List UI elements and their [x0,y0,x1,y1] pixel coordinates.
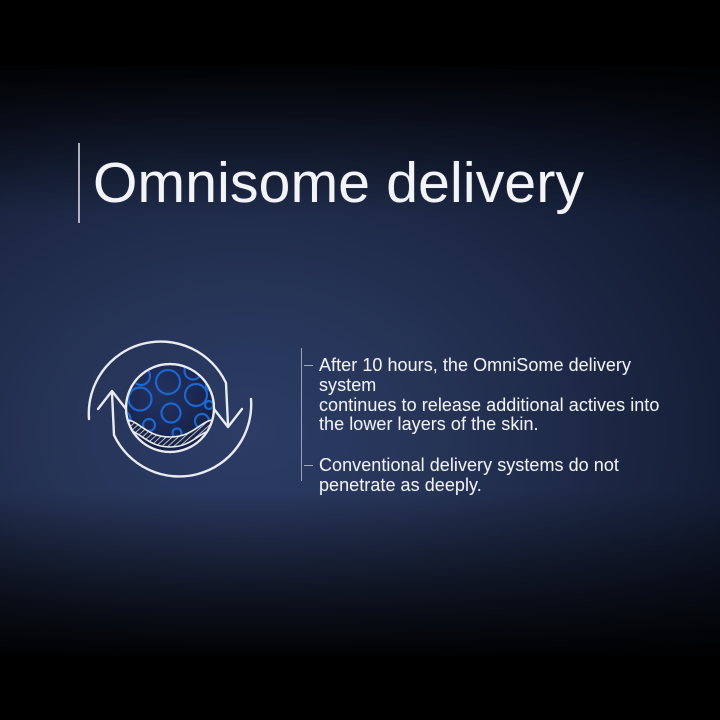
list-item-text: After 10 hours, the OmniSome delivery sy… [319,356,671,435]
list-item: After 10 hours, the OmniSome delivery sy… [301,356,671,435]
slide-viewport: Omnisome delivery [0,0,720,720]
slide-background-bottom-fade [0,491,720,656]
list-item: Conventional delivery systems do not pen… [301,456,671,496]
title-accent-rule [78,143,80,223]
bubble-sphere-icon [116,351,219,453]
letterbox-top [0,0,720,65]
letterbox-bottom [0,656,720,720]
bullet-tick-icon [304,465,313,466]
bullet-list: After 10 hours, the OmniSome delivery sy… [301,348,671,496]
list-item-text: Conventional delivery systems do not pen… [319,456,671,496]
presentation-slide: Omnisome delivery [0,65,720,656]
omnisome-delivery-cycle-icon [78,333,263,485]
page-title: Omnisome delivery [93,138,584,228]
bullet-tick-icon [304,365,313,366]
